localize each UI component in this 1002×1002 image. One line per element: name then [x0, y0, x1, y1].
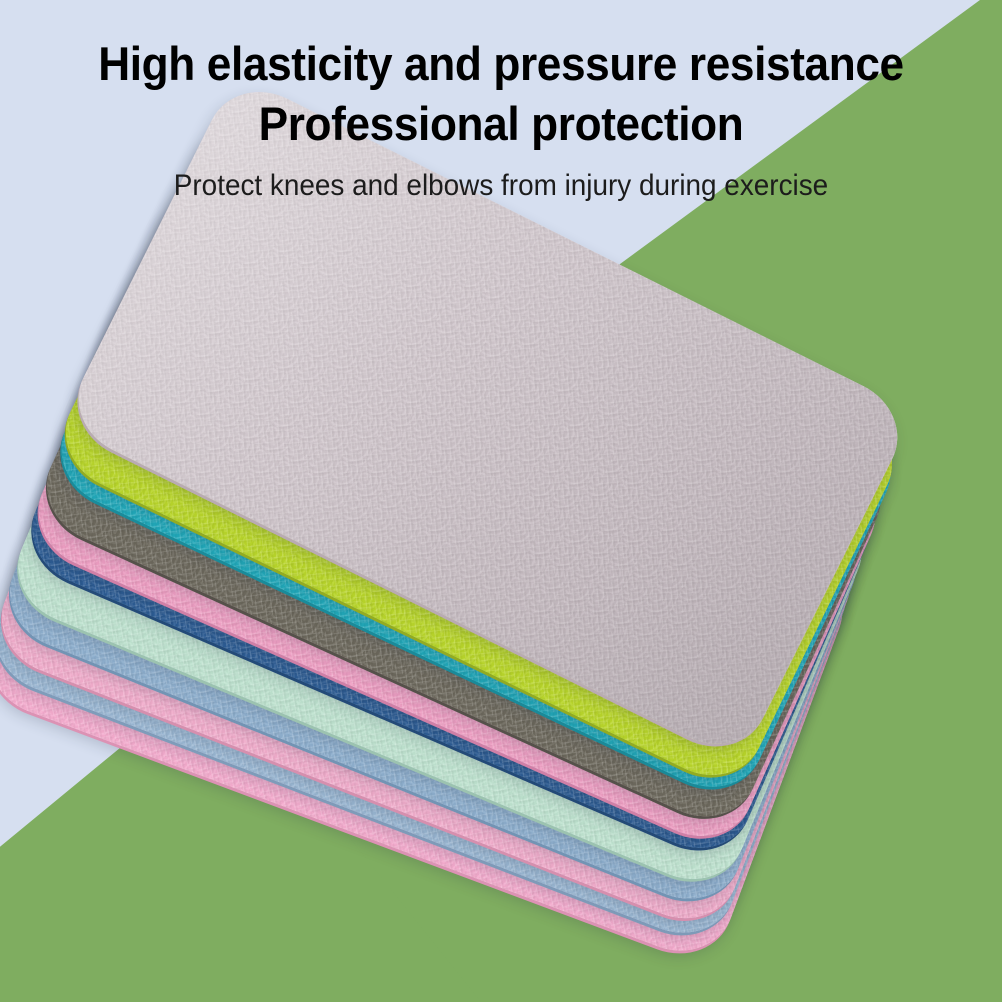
mat-stack: [0, 0, 1002, 1002]
product-banner: High elasticity and pressure resistance …: [0, 0, 1002, 1002]
